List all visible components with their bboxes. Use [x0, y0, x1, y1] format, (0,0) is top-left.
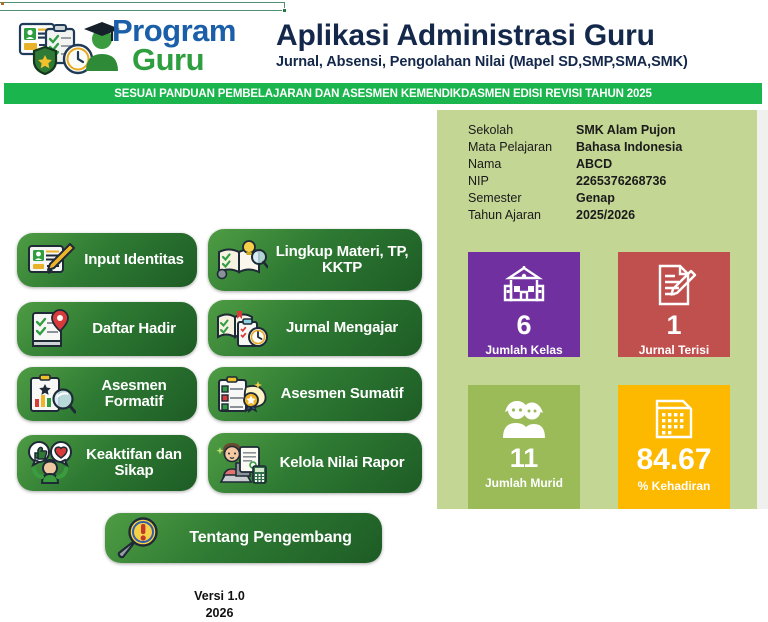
checklist-location-pin-icon	[23, 306, 79, 352]
stat-value: 6	[516, 312, 531, 339]
stat-card-jumlah-kelas[interactable]: 6 Jumlah Kelas	[468, 252, 580, 357]
info-row: NIP 2265376268736	[468, 173, 748, 190]
menu-button-label: Asesmen Sumatif	[270, 386, 422, 402]
spreadsheet-cell-selection[interactable]	[0, 2, 285, 11]
stat-label: Jumlah Murid	[485, 476, 563, 490]
stat-value: 84.67	[636, 445, 711, 475]
version-line-1: Versi 1.0	[17, 588, 422, 605]
menu-button-lingkup-materi[interactable]: Lingkup Materi, TP, KKTP	[208, 229, 422, 291]
stat-value: 11	[510, 445, 539, 472]
menu-button-jurnal-mengajar[interactable]: Jurnal Mengajar	[208, 300, 422, 356]
menu-button-daftar-hadir[interactable]: Daftar Hadir	[17, 302, 197, 356]
logo-wordmark: Program Guru	[112, 15, 268, 77]
menu-button-label: Tentang Pengembang	[167, 529, 382, 546]
version-info: Versi 1.0 2026	[17, 588, 422, 622]
id-card-pen-icon	[23, 237, 79, 283]
stat-card-persen-kehadiran[interactable]: 84.67 % Kehadiran	[618, 385, 730, 509]
info-value: ABCD	[576, 156, 612, 173]
menu-button-label: Jurnal Mengajar	[270, 320, 422, 336]
menu-button-asesmen-sumatif[interactable]: Asesmen Sumatif	[208, 367, 422, 421]
selection-corner-marker	[1, 2, 4, 5]
stat-label: % Kehadiran	[638, 479, 711, 493]
menu-button-kelola-nilai-rapor[interactable]: Kelola Nilai Rapor	[208, 433, 422, 493]
menu-button-keaktifan-sikap[interactable]: Keaktifan dan Sikap	[17, 435, 197, 491]
page-subtitle: Jurnal, Absensi, Pengolahan Nilai (Mapel…	[276, 54, 768, 70]
info-label: Nama	[468, 156, 576, 173]
logo-word-guru: Guru	[132, 46, 268, 75]
stat-card-jurnal-terisi[interactable]: 1 Jurnal Terisi	[618, 252, 730, 357]
menu-button-label: Kelola Nilai Rapor	[270, 455, 422, 471]
menu-button-input-identitas[interactable]: Input Identitas	[17, 233, 197, 287]
menu-button-label: Asesmen Formatif	[79, 378, 197, 410]
info-value: 2025/2026	[576, 207, 635, 224]
info-row: Mata Pelajaran Bahasa Indonesia	[468, 139, 748, 156]
stat-value: 1	[666, 312, 681, 339]
info-row: Sekolah SMK Alam Pujon	[468, 122, 748, 139]
info-label: NIP	[468, 173, 576, 190]
menu-button-label: Daftar Hadir	[79, 321, 197, 337]
menu-button-asesmen-formatif[interactable]: Asesmen Formatif	[17, 367, 197, 421]
two-students-icon	[499, 393, 549, 443]
info-label: Semester	[468, 190, 576, 207]
book-clipboard-clock-icon	[214, 305, 270, 351]
magnifier-exclamation-icon	[111, 515, 167, 561]
info-row: Tahun Ajaran 2025/2026	[468, 207, 748, 224]
info-row: Nama ABCD	[468, 156, 748, 173]
program-guru-logo: Program Guru	[0, 11, 268, 80]
logo-illustration-icon	[16, 15, 126, 77]
info-value: SMK Alam Pujon	[576, 122, 676, 139]
thumbs-up-heart-person-icon	[23, 440, 79, 486]
menu-button-label: Input Identitas	[79, 252, 197, 268]
menu-button-label: Keaktifan dan Sikap	[79, 447, 197, 479]
teacher-laptop-calculator-icon	[214, 440, 270, 486]
menu-button-tentang-pengembang[interactable]: Tentang Pengembang	[105, 513, 382, 563]
page-title: Aplikasi Administrasi Guru	[276, 21, 768, 52]
document-pencil-icon	[651, 260, 697, 310]
school-building-icon	[501, 260, 547, 310]
stat-card-jumlah-murid[interactable]: 11 Jumlah Murid	[468, 385, 580, 509]
guideline-banner: SESUAI PANDUAN PEMBELAJARAN DAN ASESMEN …	[4, 83, 762, 104]
title-block: Aplikasi Administrasi Guru Jurnal, Absen…	[268, 21, 768, 71]
version-line-2: 2026	[17, 605, 422, 622]
info-label: Tahun Ajaran	[468, 207, 576, 224]
info-label: Sekolah	[468, 122, 576, 139]
info-value: Genap	[576, 190, 615, 207]
info-value: Bahasa Indonesia	[576, 139, 682, 156]
stat-label: Jumlah Kelas	[485, 343, 562, 357]
calendar-grid-icon	[651, 393, 697, 443]
menu-pane: Input Identitas Lingkup Materi, TP, KKTP	[0, 110, 434, 509]
chart-clipboard-magnifier-icon	[23, 371, 79, 417]
menu-button-label: Lingkup Materi, TP, KKTP	[270, 244, 422, 276]
guideline-banner-text: SESUAI PANDUAN PEMBELAJARAN DAN ASESMEN …	[114, 88, 652, 100]
checklist-medal-icon	[214, 371, 270, 417]
info-row: Semester Genap	[468, 190, 748, 207]
info-label: Mata Pelajaran	[468, 139, 576, 156]
right-scroll-gutter[interactable]	[757, 110, 768, 509]
stat-label: Jurnal Terisi	[639, 343, 709, 357]
identity-summary: Sekolah SMK Alam Pujon Mata Pelajaran Ba…	[468, 122, 748, 224]
info-value: 2265376268736	[576, 173, 666, 190]
open-book-lightbulb-magnifier-icon	[214, 237, 270, 283]
app-header: Program Guru Aplikasi Administrasi Guru …	[0, 11, 768, 80]
